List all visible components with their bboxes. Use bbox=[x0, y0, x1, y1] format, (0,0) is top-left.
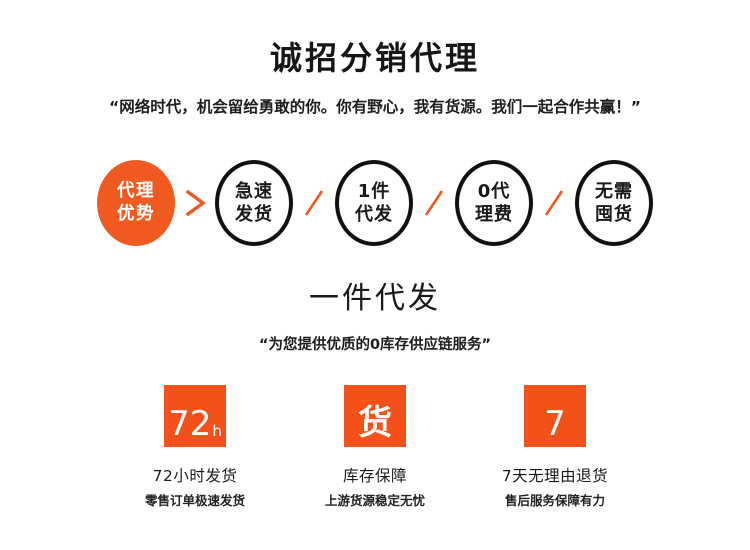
feature-item-shipping: 72 h 72小时发货 零售订单极速发货 bbox=[105, 385, 285, 510]
advantage-circle-2: 1件 代发 bbox=[335, 160, 413, 246]
separator-slash-1 bbox=[293, 178, 335, 228]
advantage-4-line-1: 无需 bbox=[595, 180, 633, 203]
section-title: 一件代发 bbox=[0, 280, 750, 318]
advantage-1-line-2: 发货 bbox=[235, 203, 273, 226]
feature-title: 72小时发货 bbox=[153, 465, 238, 487]
advantage-circle-row: 代理 优势 急速 发货 1件 代发 0代 理费 bbox=[0, 154, 750, 252]
advantage-2-line-2: 代发 bbox=[355, 203, 393, 226]
feature-title: 7天无理由退货 bbox=[502, 465, 608, 487]
feature-item-returns: 7 7天无理由退货 售后服务保障有力 bbox=[465, 385, 645, 510]
advantage-circle-1: 急速 发货 bbox=[215, 160, 293, 246]
page-subtitle: “网络时代，机会留给勇敢的你。你有野心，我有货源。我们一起合作共赢！” bbox=[0, 95, 750, 119]
feature-badge-7day: 7 bbox=[524, 385, 586, 447]
page-title: 诚招分销代理 bbox=[0, 38, 750, 78]
feature-badge-unit: h bbox=[211, 421, 222, 441]
advantage-circle-4: 无需 囤货 bbox=[575, 160, 653, 246]
feature-item-stock: 货 库存保障 上游货源稳定无忧 bbox=[285, 385, 465, 510]
advantage-3-line-1: 0代 bbox=[478, 180, 511, 203]
feature-badge-72h: 72 h bbox=[164, 385, 226, 447]
separator-slash-2 bbox=[413, 178, 455, 228]
feature-title: 库存保障 bbox=[343, 465, 407, 487]
advantage-lead-badge: 代理 优势 bbox=[97, 160, 175, 246]
advantage-lead-line-2: 优势 bbox=[117, 203, 155, 226]
feature-description: 售后服务保障有力 bbox=[505, 492, 605, 510]
feature-badge-number: 7 bbox=[544, 407, 566, 441]
advantage-3-line-2: 理费 bbox=[475, 203, 513, 226]
separator-chevron bbox=[175, 180, 215, 226]
feature-description: 上游货源稳定无忧 bbox=[325, 492, 425, 510]
section-subtitle: “为您提供优质的0库存供应链服务” bbox=[0, 334, 750, 356]
advantage-lead-line-1: 代理 bbox=[117, 180, 155, 203]
feature-list: 72 h 72小时发货 零售订单极速发货 货 库存保障 上游货源稳定无忧 7 7… bbox=[0, 385, 750, 510]
advantage-2-line-1: 1件 bbox=[358, 180, 391, 203]
feature-badge-stock: 货 bbox=[344, 385, 406, 447]
feature-badge-number: 72 bbox=[168, 407, 211, 441]
advantage-circle-3: 0代 理费 bbox=[455, 160, 533, 246]
separator-slash-3 bbox=[533, 178, 575, 228]
advantage-1-line-1: 急速 bbox=[235, 180, 273, 203]
advantage-4-line-2: 囤货 bbox=[595, 203, 633, 226]
feature-badge-glyph: 货 bbox=[358, 405, 392, 441]
promo-page: 诚招分销代理 “网络时代，机会留给勇敢的你。你有野心，我有货源。我们一起合作共赢… bbox=[0, 0, 750, 550]
feature-description: 零售订单极速发货 bbox=[145, 492, 245, 510]
